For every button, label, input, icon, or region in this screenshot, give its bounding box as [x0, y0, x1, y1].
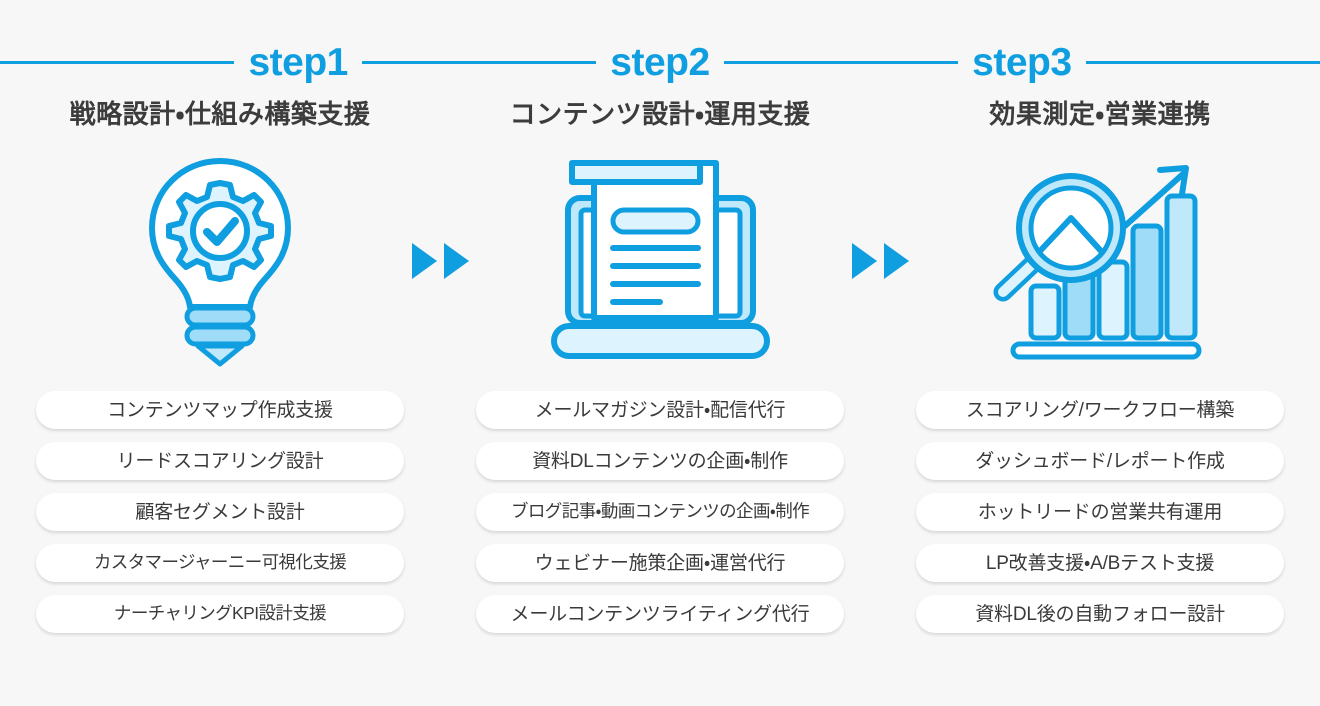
- header-rule-left: [0, 61, 234, 64]
- laptop-document-icon: [548, 158, 773, 363]
- list-item[interactable]: ナーチャリングKPI設計支援: [36, 595, 404, 633]
- step-label-1: step1: [234, 43, 361, 82]
- list-item[interactable]: メールマガジン設計・配信代行: [476, 391, 844, 429]
- right-triangle-icon: [412, 243, 437, 279]
- list-item[interactable]: ダッシュボード/レポート作成: [916, 442, 1284, 480]
- step-icon-3-wrap: [880, 135, 1320, 385]
- list-item[interactable]: 資料DL後の自動フォロー設計: [916, 595, 1284, 633]
- header-rule-mid-2: [724, 61, 958, 64]
- step-label-2: step2: [596, 43, 723, 82]
- step-title-1: 戦略設計・仕組み構築支援: [70, 95, 371, 135]
- step-title-3: 効果測定・営業連携: [989, 95, 1210, 135]
- step-icon-2-wrap: [440, 135, 880, 385]
- magnifier-bar-chart-growth-icon: [993, 158, 1208, 363]
- list-item[interactable]: ブログ記事・動画コンテンツの企画・制作: [476, 493, 844, 531]
- list-item[interactable]: カスタマージャーニー可視化支援: [36, 544, 404, 582]
- list-item[interactable]: ウェビナー施策企画・運営代行: [476, 544, 844, 582]
- list-item[interactable]: 資料DLコンテンツの企画・制作: [476, 442, 844, 480]
- step-column-2: コンテンツ設計・運用支援: [440, 95, 880, 633]
- step-flow-board: step1 step2 step3 戦略設計・仕組み構築支援: [0, 0, 1320, 706]
- arrow-separator-1: [390, 243, 490, 279]
- lightbulb-gear-check-icon: [130, 153, 310, 368]
- step-title-2: コンテンツ設計・運用支援: [510, 95, 811, 135]
- header-rule-mid-1: [362, 61, 596, 64]
- header-rule-right: [1086, 61, 1320, 64]
- step-columns: 戦略設計・仕組み構築支援: [0, 95, 1320, 633]
- step-icon-1-wrap: [0, 135, 440, 385]
- step-2-item-list: メールマガジン設計・配信代行 資料DLコンテンツの企画・制作 ブログ記事・動画コ…: [476, 391, 844, 633]
- arrow-separator-2: [830, 243, 930, 279]
- list-item[interactable]: LP改善支援・A/Bテスト支援: [916, 544, 1284, 582]
- step-1-item-list: コンテンツマップ作成支援 リードスコアリング設計 顧客セグメント設計 カスタマー…: [36, 391, 404, 633]
- right-triangle-icon: [884, 243, 909, 279]
- step-label-3: step3: [958, 43, 1085, 82]
- list-item[interactable]: 顧客セグメント設計: [36, 493, 404, 531]
- list-item[interactable]: コンテンツマップ作成支援: [36, 391, 404, 429]
- step-column-1: 戦略設計・仕組み構築支援: [0, 95, 440, 633]
- right-triangle-icon: [852, 243, 877, 279]
- list-item[interactable]: ホットリードの営業共有運用: [916, 493, 1284, 531]
- step-column-3: 効果測定・営業連携: [880, 95, 1320, 633]
- list-item[interactable]: メールコンテンツライティング代行: [476, 595, 844, 633]
- step-header-row: step1 step2 step3: [0, 36, 1320, 88]
- list-item[interactable]: リードスコアリング設計: [36, 442, 404, 480]
- step-3-item-list: スコアリング/ワークフロー構築 ダッシュボード/レポート作成 ホットリードの営業…: [916, 391, 1284, 633]
- right-triangle-icon: [444, 243, 469, 279]
- list-item[interactable]: スコアリング/ワークフロー構築: [916, 391, 1284, 429]
